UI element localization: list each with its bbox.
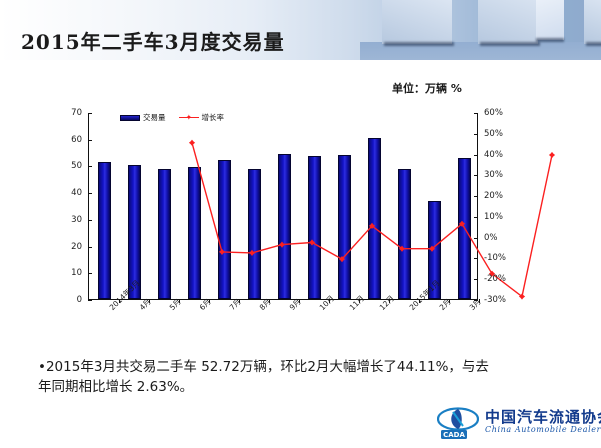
y-axis-left-label: 10 <box>56 268 82 278</box>
unit-label: 单位：万辆 % <box>392 80 462 96</box>
decorative-cube-icon <box>382 0 452 46</box>
y-axis-right-tick <box>474 196 478 197</box>
y-axis-left-tick <box>88 247 92 248</box>
y-axis-right-label: -10% <box>484 253 506 263</box>
logo-text: CADA <box>443 431 465 439</box>
summary-text: •2015年3月共交易二手车 52.72万辆，环比2月大幅增长了44.11%，与… <box>38 357 568 397</box>
y-axis-right-tick <box>474 113 478 114</box>
y-axis-right-label: 50% <box>484 129 503 139</box>
line-data-point <box>249 250 255 256</box>
line-data-point <box>279 241 285 247</box>
org-name-cn: 中国汽车流通协会 <box>485 406 601 427</box>
decorative-cube-icon <box>478 0 564 46</box>
y-axis-right-tick <box>474 238 478 239</box>
y-axis-right-label: 60% <box>484 108 503 118</box>
summary-line-2: 年同期相比增长 2.63%。 <box>38 377 568 397</box>
decorative-cube-icon <box>584 0 601 46</box>
y-axis-left-label: 30 <box>56 215 82 225</box>
summary-line-1: •2015年3月共交易二手车 52.72万辆，环比2月大幅增长了44.11%，与… <box>38 357 568 377</box>
line-data-point <box>549 152 555 158</box>
y-axis-right-label: -20% <box>484 274 506 284</box>
y-axis-right-label: 0% <box>484 233 498 243</box>
y-axis-left-label: 20 <box>56 242 82 252</box>
line-data-point <box>189 140 195 146</box>
line-data-point <box>219 249 225 255</box>
cada-logo-icon: CADA <box>437 406 479 440</box>
chart: 010203040506070 -30%-20%-10%0%10%20%30%4… <box>0 104 601 342</box>
y-axis-left-tick <box>88 193 92 194</box>
chart-plot-area <box>88 113 478 300</box>
y-axis-left-tick <box>88 140 92 141</box>
y-axis-left-tick <box>88 113 92 114</box>
y-axis-right-label: -30% <box>484 295 506 305</box>
y-axis-left-label: 60 <box>56 135 82 145</box>
y-axis-right-tick <box>474 134 478 135</box>
y-axis-right-label: 10% <box>484 212 503 222</box>
y-axis-left-tick <box>88 300 92 301</box>
page-title: 2015年二手车3月度交易量 <box>21 26 285 55</box>
org-name-en: China Automobile Dealers Association <box>485 425 601 434</box>
y-axis-right-label: 30% <box>484 170 503 180</box>
y-axis-left-label: 0 <box>56 295 82 305</box>
banner-divider <box>0 60 601 62</box>
y-axis-left-tick <box>88 273 92 274</box>
y-axis-right-label: 40% <box>484 150 503 160</box>
header-banner: 2015年二手车3月度交易量 <box>0 0 601 62</box>
chart-bar <box>158 169 171 299</box>
y-axis-right-tick <box>474 175 478 176</box>
growth-rate-line-series <box>177 122 567 309</box>
y-axis-left-tick <box>88 166 92 167</box>
y-axis-right-tick <box>474 258 478 259</box>
y-axis-left-tick <box>88 220 92 221</box>
y-axis-left-label: 70 <box>56 108 82 118</box>
y-axis-right-tick <box>474 279 478 280</box>
y-axis-right-tick <box>474 155 478 156</box>
y-axis-left-label: 50 <box>56 161 82 171</box>
chart-bar <box>98 162 111 299</box>
y-axis-right-label: 20% <box>484 191 503 201</box>
line-data-point <box>309 239 315 245</box>
footer-logo: CADA 中国汽车流通协会 China Automobile Dealers A… <box>437 404 597 444</box>
y-axis-right-tick <box>474 217 478 218</box>
y-axis-left-label: 40 <box>56 188 82 198</box>
